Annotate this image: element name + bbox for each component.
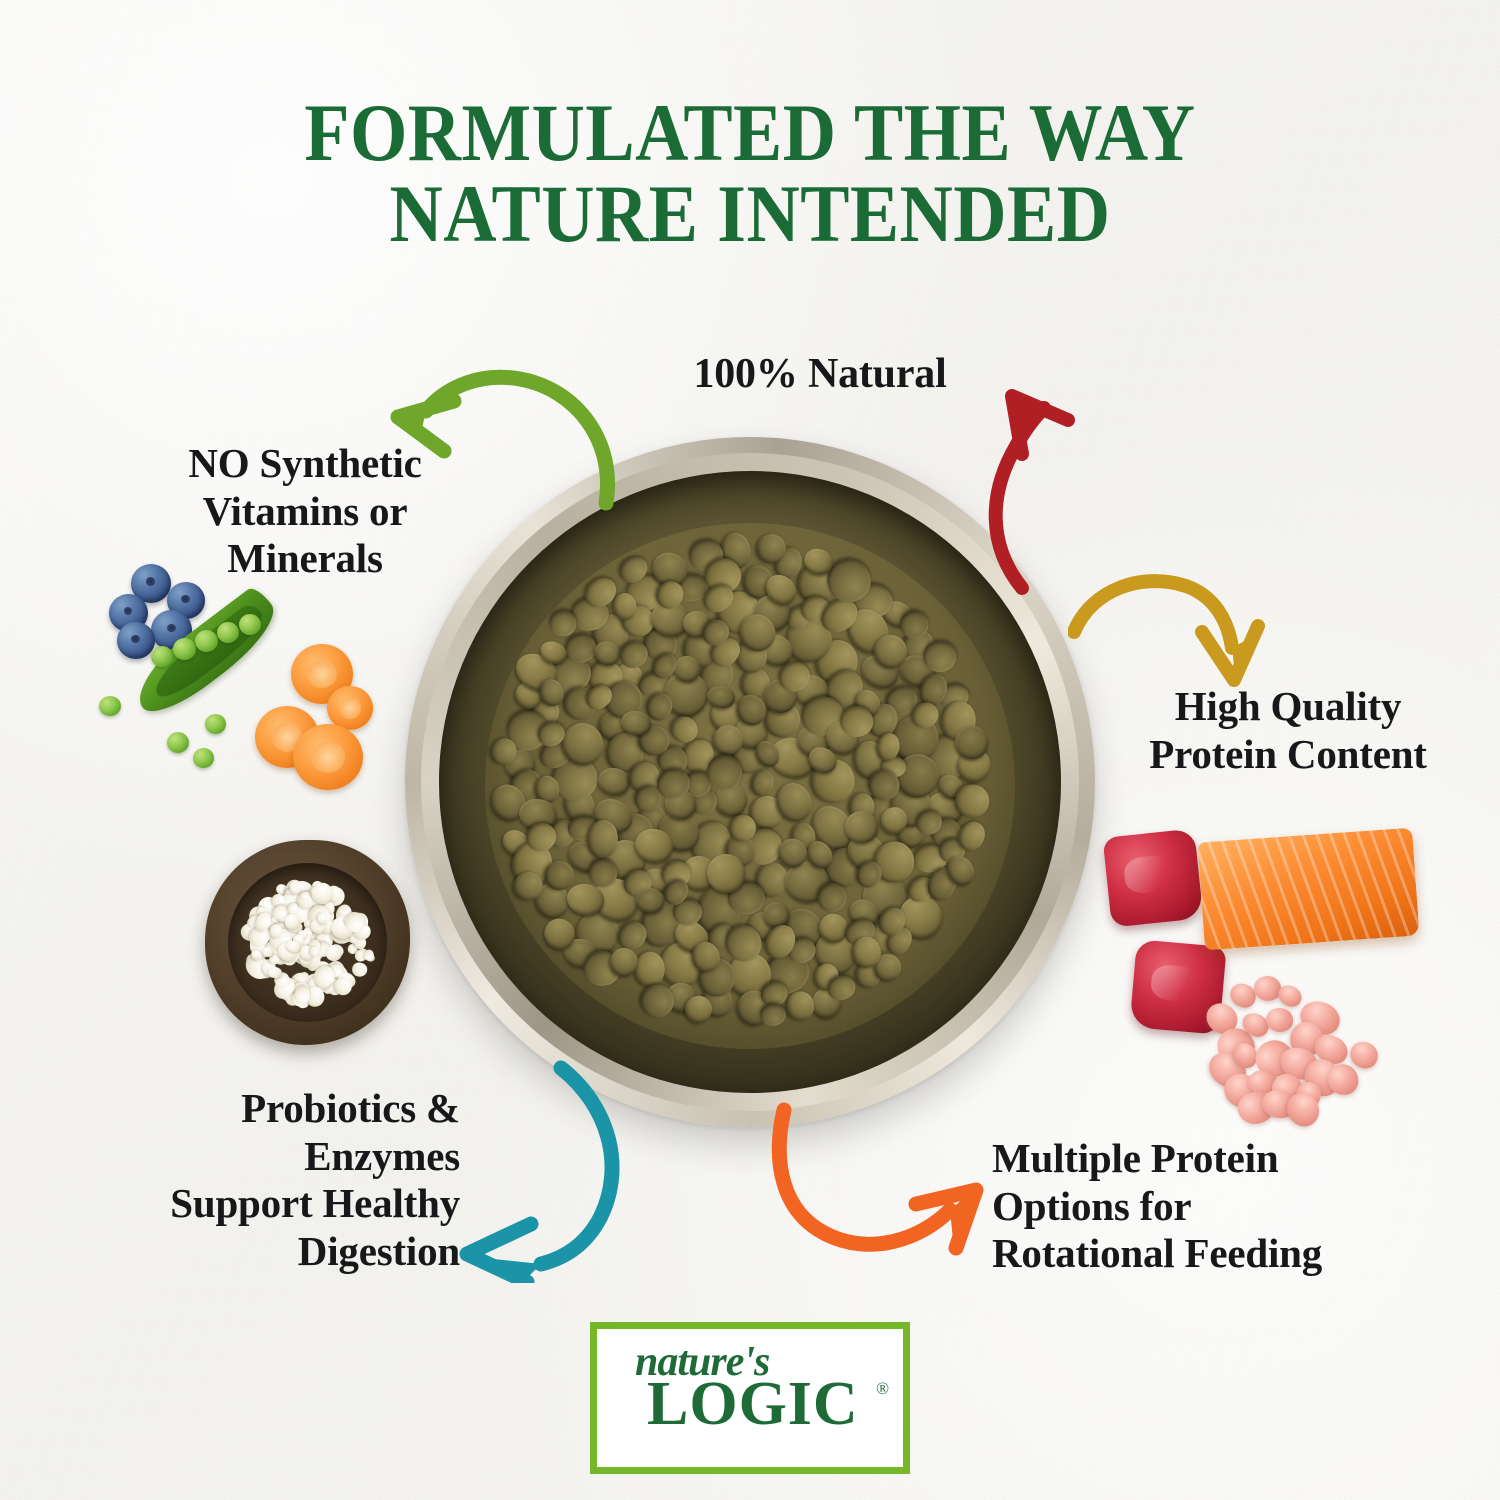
salmon-fillet <box>1197 828 1419 951</box>
protein-ingredient-group <box>1105 815 1450 1120</box>
pea <box>217 622 239 643</box>
callout-no-synthetic-line-1: NO Synthetic <box>110 440 500 488</box>
callout-probiotics-line-4: Digestion <box>60 1228 460 1276</box>
cheese-curd <box>262 946 273 958</box>
pea <box>239 614 261 635</box>
carrot-slice <box>327 686 373 730</box>
chicken-cube <box>1265 1007 1295 1034</box>
callout-probiotics-line-3: Support Healthy <box>60 1180 460 1228</box>
cheese-curd <box>351 961 368 977</box>
brand-logo[interactable]: nature's LOGIC ® <box>590 1322 910 1474</box>
kibble-piece <box>845 811 878 843</box>
pea <box>173 638 196 660</box>
vegetables-ingredient-group <box>95 560 395 795</box>
brand-logo-wordmark: LOGIC <box>647 1373 859 1435</box>
kibble-piece <box>923 641 957 673</box>
cottage-cheese-bowl <box>205 840 410 1045</box>
chicken-cube <box>1252 974 1282 1002</box>
orange-arrow-up-right-icon <box>770 1100 990 1275</box>
cottage-cheese-curds <box>237 872 378 1013</box>
callout-label-rotational: Multiple Protein Options for Rotational … <box>992 1135 1432 1278</box>
callout-label-probiotics: Probiotics & Enzymes Support Healthy Dig… <box>60 1085 460 1275</box>
brand-logo-inner: nature's LOGIC ® <box>597 1329 903 1467</box>
callout-no-synthetic-line-2: Vitamins or <box>110 488 500 536</box>
pea <box>205 714 226 734</box>
pea <box>167 732 189 753</box>
beef-chunk <box>1103 828 1204 927</box>
callout-protein-line-2: Protein Content <box>1078 731 1498 779</box>
callout-label-natural: 100% Natural <box>600 350 1040 399</box>
kibble-piece <box>634 952 665 988</box>
kibble-piece <box>550 610 577 637</box>
kibble-piece <box>759 1003 787 1027</box>
kibble-piece <box>785 990 815 1021</box>
registered-trademark-icon: ® <box>876 1379 889 1399</box>
carrot-slice <box>293 724 363 790</box>
callout-rotational-line-1: Multiple Protein <box>992 1135 1432 1183</box>
callout-protein-line-1: High Quality <box>1078 683 1498 731</box>
page-title-line-1: FORMULATED THE WAY <box>304 87 1195 178</box>
blueberry <box>117 622 155 659</box>
page-title-line-2: NATURE INTENDED <box>75 173 1425 254</box>
chicken-cubes <box>1200 970 1375 1110</box>
page-title: FORMULATED THE WAY NATURE INTENDED <box>75 92 1425 254</box>
callout-rotational-line-3: Rotational Feeding <box>992 1230 1432 1278</box>
teal-arrow-down-left-icon <box>455 1058 645 1283</box>
pea <box>99 696 121 716</box>
kibble-piece <box>839 705 873 736</box>
callout-probiotics-line-2: Enzymes <box>60 1133 460 1181</box>
kibble-field <box>485 523 1015 1049</box>
callout-label-protein: High Quality Protein Content <box>1078 683 1498 778</box>
wooden-bowl-interior <box>228 863 388 1023</box>
callout-rotational-line-2: Options for <box>992 1183 1432 1231</box>
pea <box>195 630 218 652</box>
callout-natural-text: 100% Natural <box>693 351 946 397</box>
pea <box>193 748 214 768</box>
callout-probiotics-line-1: Probiotics & <box>60 1085 460 1133</box>
red-arrow-up-left-icon <box>960 370 1100 600</box>
pea <box>151 646 173 667</box>
infographic-canvas: FORMULATED THE WAY NATURE INTENDED <box>0 0 1500 1500</box>
